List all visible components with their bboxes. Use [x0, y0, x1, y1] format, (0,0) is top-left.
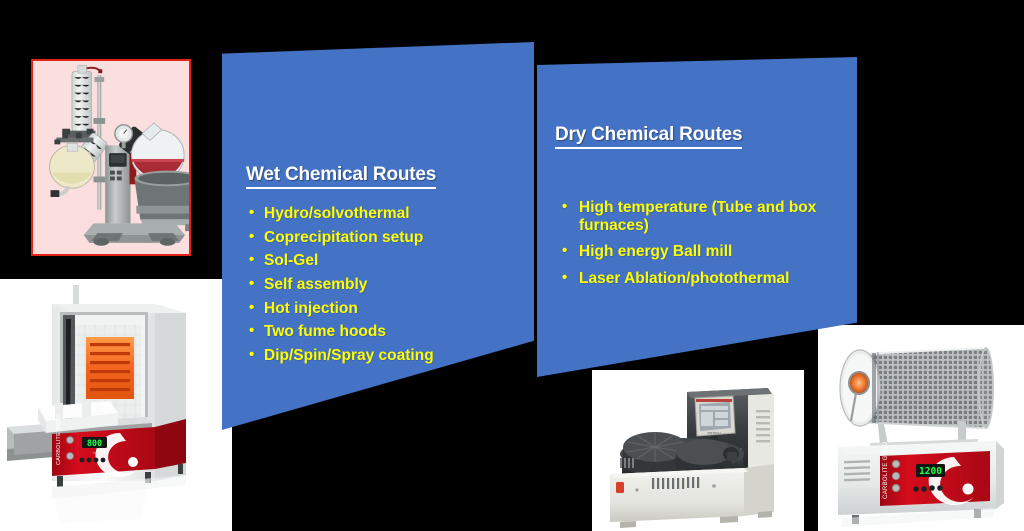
- bullet-item: Laser Ablation/photothermal: [559, 270, 849, 288]
- bullet-item: High temperature (Tube and box furnaces): [559, 199, 849, 234]
- bullet-item: Hydro/solvothermal: [249, 205, 499, 223]
- wet-chemical-routes-content: Wet Chemical Routes Hydro/solvothermal C…: [222, 42, 534, 430]
- wet-panel-bullet-list: Hydro/solvothermal Coprecipitation setup…: [249, 205, 499, 371]
- bullet-item: High energy Ball mill: [559, 243, 849, 261]
- box-furnace-photo: 800 °C CARBOLITE GERO: [0, 279, 232, 531]
- box-furnace-display-value: 800: [87, 439, 102, 449]
- bullet-item: Two fume hoods: [249, 323, 499, 341]
- dry-panel-bullet-list: High temperature (Tube and box furnaces)…: [559, 199, 849, 297]
- svg-text:FRITSCH: FRITSCH: [708, 431, 721, 435]
- wet-panel-title: Wet Chemical Routes: [246, 164, 436, 189]
- slide-canvas: 800 °C CARBOLITE GERO: [0, 0, 1024, 531]
- bullet-item: Dip/Spin/Spray coating: [249, 347, 499, 365]
- bullet-item: Hot injection: [249, 300, 499, 318]
- rotary-evaporator-illustration: [33, 61, 189, 254]
- tube-furnace-brand: CARBOLITE GERO: [883, 441, 889, 499]
- ball-mill-illustration: FRITSCH: [592, 370, 804, 531]
- rotary-evaporator-photo: [18, 53, 204, 263]
- dry-chemical-routes-content: Dry Chemical Routes High temperature (Tu…: [537, 57, 857, 377]
- rotary-evaporator-frame: [31, 59, 191, 256]
- planetary-ball-mill-photo: FRITSCH: [592, 370, 804, 531]
- bullet-item: Self assembly: [249, 276, 499, 294]
- box-furnace-brand: CARBOLITE GERO: [56, 413, 62, 465]
- box-furnace-illustration: 800 °C CARBOLITE GERO: [0, 279, 232, 531]
- bullet-item: Sol-Gel: [249, 252, 499, 270]
- dry-panel-title: Dry Chemical Routes: [555, 124, 742, 149]
- bullet-item: Coprecipitation setup: [249, 229, 499, 247]
- tube-furnace-display-value: 1200: [919, 466, 942, 477]
